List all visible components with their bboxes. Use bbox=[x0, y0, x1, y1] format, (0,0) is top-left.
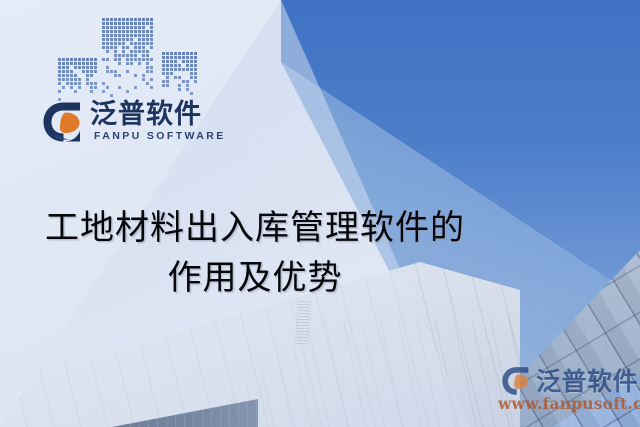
page-title: 工地材料出入库管理软件的 作用及优势 bbox=[0, 203, 510, 303]
fanpu-shield-logo-icon bbox=[500, 366, 534, 396]
logo-english-name: FANPU SOFTWARE bbox=[94, 130, 226, 142]
logo-chinese-name: 泛普软件 bbox=[90, 99, 202, 129]
page-title-line-2: 作用及优势 bbox=[0, 253, 510, 303]
page-title-line-1: 工地材料出入库管理软件的 bbox=[0, 203, 510, 253]
watermark-url: www.fanpusoft.com bbox=[498, 394, 640, 413]
promo-banner: 泛普软件 FANPU SOFTWARE 工地材料出入库管理软件的 作用及优势 泛… bbox=[0, 0, 640, 427]
watermark-chinese-name: 泛普软件 bbox=[536, 362, 638, 398]
watermark: 泛普软件 www.fanpusoft.com bbox=[498, 362, 640, 422]
brand-logo: 泛普软件 FANPU SOFTWARE bbox=[42, 99, 182, 149]
pixel-skyline-graphic bbox=[58, 4, 190, 108]
fanpu-shield-logo-icon bbox=[42, 101, 86, 143]
